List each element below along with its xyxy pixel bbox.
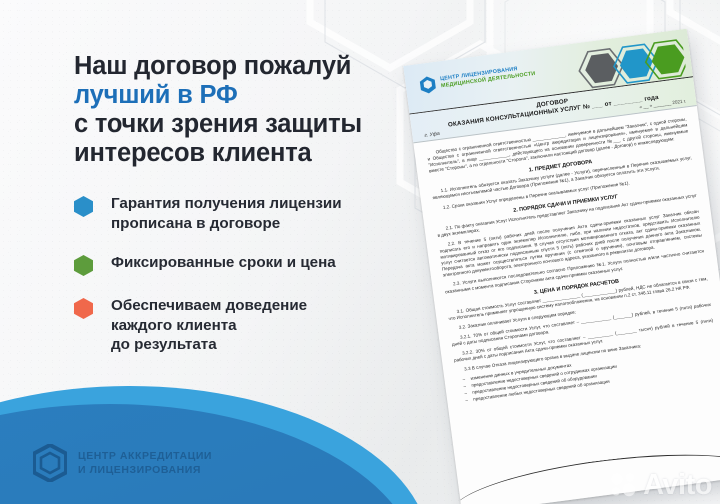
- list-item-label: Обеспечиваем доведение каждого клиента д…: [111, 296, 307, 355]
- headline-line-2: лучший в РФ: [74, 81, 404, 110]
- brand-line-1: ЦЕНТР АККРЕДИТАЦИИ: [78, 450, 212, 462]
- company-logo: ЦЕНТР АККРЕДИТАЦИИ И ЛИЦЕНЗИРОВАНИЯ: [33, 444, 212, 482]
- hexagon-outline-logo-icon: [33, 444, 67, 482]
- promo-banner: Наш договор пожалуй лучший в РФ с точки …: [0, 0, 720, 504]
- list-item-label: Фиксированные сроки и цена: [111, 253, 336, 273]
- list-item: Фиксированные сроки и цена: [74, 253, 374, 276]
- list-item-label: Гарантия получения лицензии прописана в …: [111, 194, 342, 233]
- benefit-3-line-3: до результата: [111, 336, 217, 353]
- page-title: Наш договор пожалуй лучший в РФ с точки …: [74, 52, 404, 168]
- document-page: ЦЕНТР ЛИЦЕНЗИРОВАНИЯ МЕДИЦИНСКОЙ ДЕЯТЕЛЬ…: [403, 29, 720, 504]
- headline-line-3: с точки зрения защиты: [74, 110, 404, 139]
- document-body: Общество с ограниченной ответственностью…: [413, 106, 720, 406]
- benefit-3-line-1: Обеспечиваем доведение: [111, 297, 307, 314]
- hexagon-bullet-blue-icon: [74, 196, 93, 217]
- hexagon-bullet-green-icon: [74, 255, 93, 276]
- document-logo: ЦЕНТР ЛИЦЕНЗИРОВАНИЯ МЕДИЦИНСКОЙ ДЕЯТЕЛЬ…: [419, 62, 536, 95]
- benefit-3-line-2: каждого клиента: [111, 317, 237, 334]
- benefit-1-line-1: Гарантия получения лицензии: [111, 195, 342, 212]
- document-logo-text: ЦЕНТР ЛИЦЕНЗИРОВАНИЯ МЕДИЦИНСКОЙ ДЕЯТЕЛЬ…: [440, 64, 536, 90]
- hexagon-logo-icon: [419, 75, 437, 95]
- avito-wordmark: Avito: [643, 472, 712, 498]
- brand-line-2: И ЛИЦЕНЗИРОВАНИЯ: [78, 464, 201, 476]
- contract-document: ЦЕНТР ЛИЦЕНЗИРОВАНИЯ МЕДИЦИНСКОЙ ДЕЯТЕЛЬ…: [403, 27, 720, 504]
- avito-dots-icon: [610, 472, 640, 498]
- list-item: Обеспечиваем доведение каждого клиента д…: [74, 296, 374, 355]
- document-city: г. Уфа: [424, 131, 440, 139]
- hexagon-bullet-red-icon: [74, 298, 93, 319]
- benefits-list: Гарантия получения лицензии прописана в …: [74, 194, 374, 355]
- list-item: Гарантия получения лицензии прописана в …: [74, 194, 374, 233]
- avito-watermark: Avito: [610, 472, 712, 498]
- headline-line-4: интересов клиента: [74, 139, 404, 168]
- benefit-1-line-2: прописана в договоре: [111, 215, 280, 232]
- company-logo-text: ЦЕНТР АККРЕДИТАЦИИ И ЛИЦЕНЗИРОВАНИЯ: [78, 449, 212, 477]
- benefit-2-line-1: Фиксированные сроки и цена: [111, 254, 336, 271]
- headline-line-1: Наш договор пожалуй: [74, 52, 404, 81]
